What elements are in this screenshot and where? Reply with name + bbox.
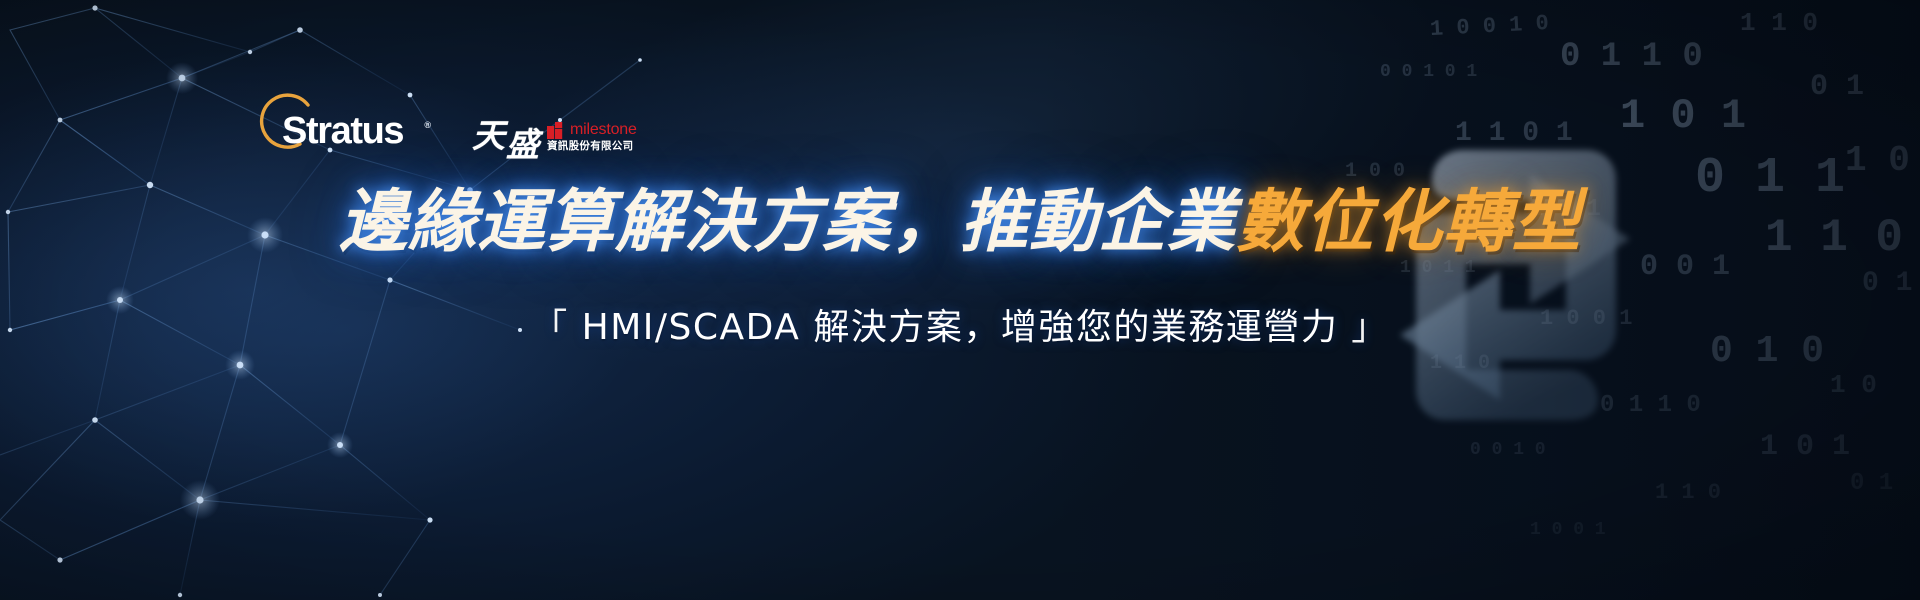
milestone-partner-logo[interactable]: 天盛 milestone 資訊股份有限公司: [472, 120, 637, 154]
partner-company-suffix: 資訊股份有限公司: [547, 141, 637, 152]
subtitle-text: HMI/SCADA 解決方案，增強您的業務運營力: [582, 307, 1339, 348]
milestone-block: milestone 資訊股份有限公司: [547, 122, 637, 153]
milestone-square-mark-icon: [547, 122, 566, 139]
subtitle-bracket-close: 」: [1351, 307, 1389, 348]
subtitle-bracket-open: 「: [531, 307, 569, 348]
headline-segment-gold: 數位化轉型: [1236, 183, 1581, 262]
stratus-wordmark: Stratus: [282, 112, 403, 150]
partner-cjk-name: 天盛: [472, 120, 540, 152]
headline-segment-white: 邊緣運算解決方案，推動企業: [339, 183, 1236, 262]
stratus-trademark-symbol: ®: [424, 120, 431, 130]
partner-cjk-char-2: 盛: [506, 129, 540, 161]
subtitle: 「 HMI/SCADA 解決方案，增強您的業務運營力 」: [290, 298, 1630, 350]
partner-cjk-char-1: 天: [472, 116, 506, 155]
stratus-logo[interactable]: Stratus ®: [258, 92, 428, 154]
logo-row: Stratus ® 天盛 milestone 資訊股份有限公司: [258, 92, 637, 154]
milestone-wordmark: milestone: [570, 122, 637, 138]
headline: 邊緣運算解決方案，推動企業數位化轉型: [290, 185, 1630, 261]
marketing-banner: 1 0 0 1 0 0 1 1 0 1 1 0 0 0 1 0 1 1 0 1 …: [0, 0, 1920, 600]
milestone-top-row: milestone: [547, 122, 637, 139]
